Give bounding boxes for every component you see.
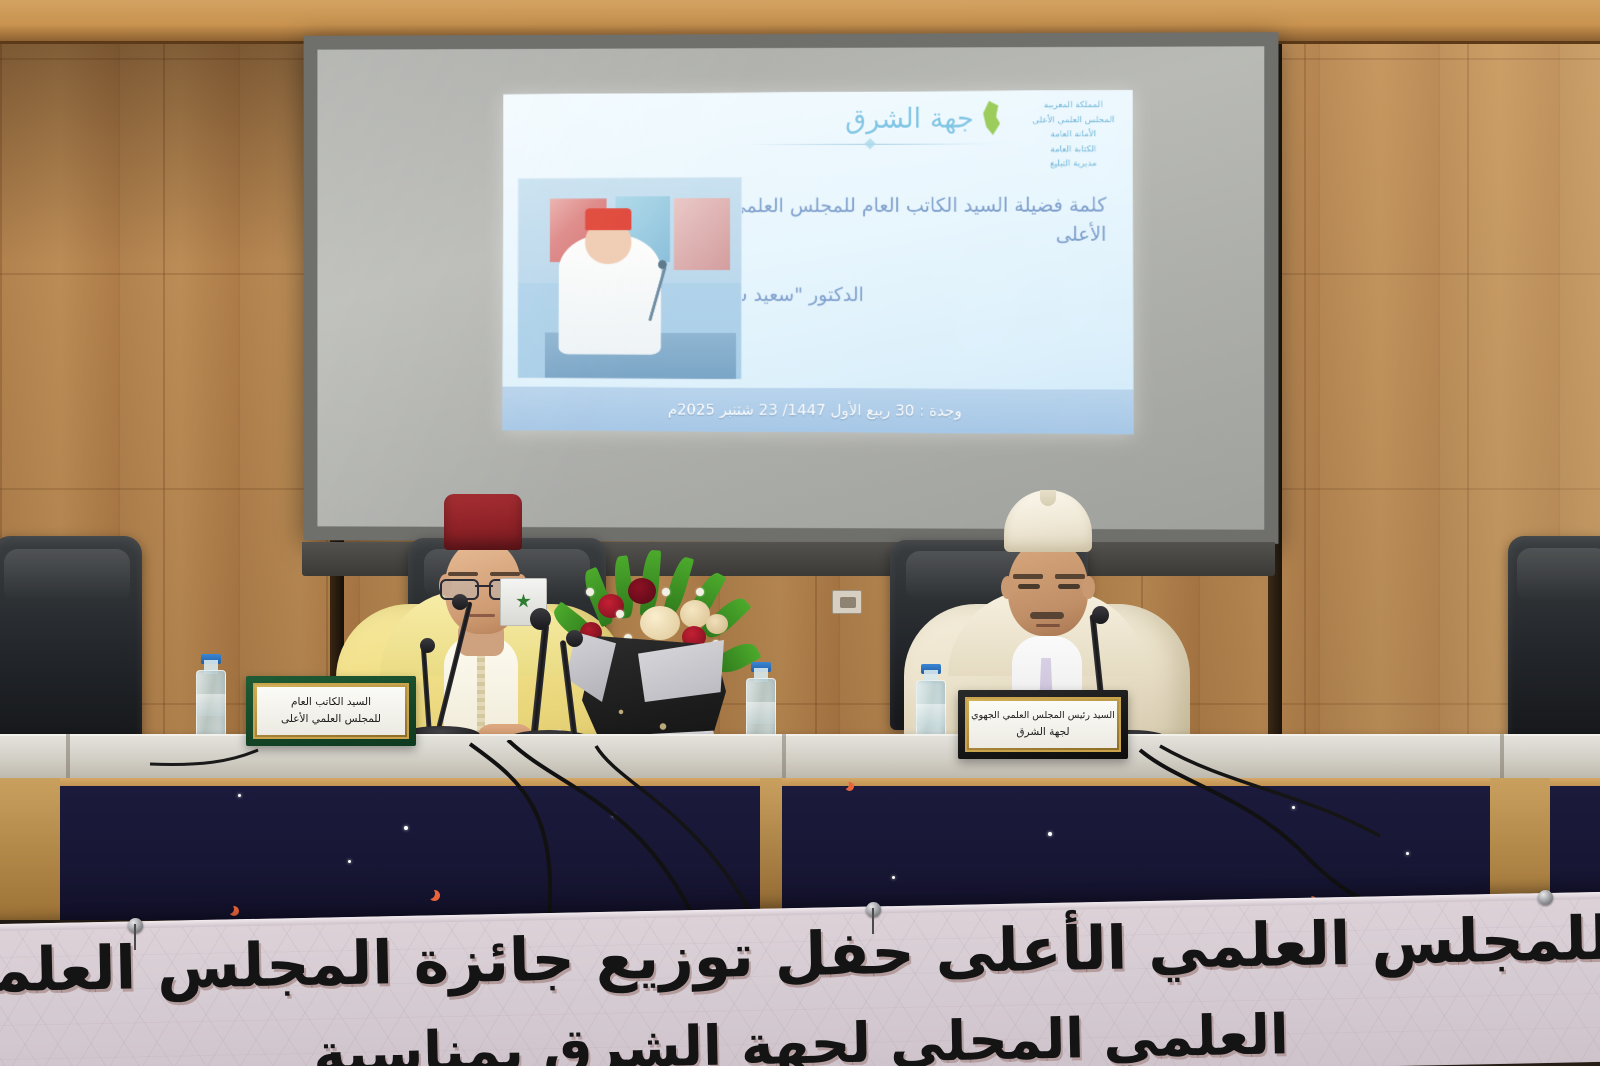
slide-bullet-item: كلمة فضيلة السيد الكاتب العام للمجلس الع… — [684, 191, 1107, 251]
screen-canvas: جهة الشرق المملكة المغربية المجلس العلمي… — [317, 46, 1264, 529]
microphone-head — [452, 594, 468, 610]
banner-pin — [134, 924, 136, 950]
header-line-1: المملكة المغربية — [1032, 98, 1114, 113]
right-person-eyebrow — [1013, 574, 1043, 579]
slide-footer-bar: وجدة : 30 ربيع الأول 1447/ 23 شتنبر 2025… — [503, 387, 1134, 435]
cream-rose — [640, 606, 680, 640]
header-line-5: مديرية التبليغ — [1032, 157, 1114, 172]
conference-photo-scene: جهة الشرق المملكة المغربية المجلس العلمي… — [0, 0, 1600, 1066]
filler-flower — [696, 588, 704, 596]
microphone-head — [420, 638, 435, 653]
nameplate-left-line-1: السيد الكاتب العام — [291, 696, 371, 709]
chair-far-left — [0, 536, 142, 746]
microphone-head — [530, 608, 551, 630]
slide-logo-text: جهة الشرق — [845, 103, 974, 135]
filler-flower — [662, 588, 670, 596]
header-line-4: الكتابة العامة — [1032, 142, 1114, 157]
photo-wall-frame — [674, 198, 730, 270]
slide-logo: جهة الشرق — [845, 101, 1002, 136]
nameplate-right-inner: السيد رئيس المجلس العلمي الجهوي لجهة الش… — [969, 701, 1117, 748]
nameplate-right-line-1: السيد رئيس المجلس العلمي الجهوي — [971, 710, 1115, 722]
morocco-star-icon — [516, 594, 531, 609]
filler-flower — [616, 610, 624, 618]
right-person-mouth — [1036, 624, 1060, 627]
banner-grommet — [1538, 890, 1553, 905]
slide-footer-date: وجدة : 30 ربيع الأول 1447/ 23 شتنبر 2025… — [668, 400, 962, 420]
red-fez-icon — [444, 494, 522, 550]
wall-shadow — [0, 44, 330, 264]
slide-bullet-list: كلمة فضيلة السيد الكاتب العام للمجلس الع… — [684, 191, 1107, 341]
right-person-eye — [1018, 584, 1040, 589]
nameplate-left-line-2: للمجلس العلمي الأعلى — [281, 713, 381, 726]
header-line-3: الأمانة العامة — [1032, 128, 1114, 143]
right-person-ear — [1001, 576, 1014, 599]
eyeglasses-bridge — [475, 585, 493, 587]
region-map-icon — [980, 101, 1002, 135]
right-person-eye — [1058, 584, 1080, 589]
bottle-label — [746, 702, 776, 724]
nameplate-left-inner: السيد الكاتب العام للمجلس العلمي الأعلى — [257, 687, 405, 735]
filler-flower — [586, 588, 594, 596]
dark-rose — [628, 578, 656, 604]
chair-far-right — [1508, 536, 1600, 744]
tarboush-notch — [1040, 490, 1056, 506]
right-person-eyebrow — [1055, 574, 1085, 579]
banner-pin — [872, 908, 874, 934]
chair-highlight — [1517, 548, 1600, 602]
chair-highlight — [4, 549, 130, 604]
photo-speaker-fez-icon — [585, 209, 632, 231]
nameplate-right-line-2: لجهة الشرق — [1016, 726, 1069, 739]
left-person-eyebrow — [490, 572, 520, 576]
presentation-slide: جهة الشرق المملكة المغربية المجلس العلمي… — [503, 90, 1134, 435]
nameplate-left: السيد الكاتب العام للمجلس العلمي الأعلى — [246, 676, 416, 746]
right-person-ear — [1082, 576, 1095, 599]
wall-outlet — [832, 590, 862, 614]
cream-rose — [706, 614, 728, 634]
right-person-moustache — [1030, 612, 1064, 619]
bottle-label — [196, 694, 226, 716]
left-person-eyebrow — [448, 572, 478, 576]
bullet-text-1: كلمة فضيلة السيد الكاتب العام للمجلس الع… — [702, 191, 1106, 251]
slide-institution-header: المملكة المغربية المجلس العلمي الأعلى ال… — [1032, 98, 1114, 172]
nameplate-gold-border: السيد الكاتب العام للمجلس العلمي الأعلى — [253, 683, 409, 739]
nameplate-right: السيد رئيس المجلس العلمي الجهوي لجهة الش… — [958, 690, 1128, 759]
left-person-mouth — [469, 614, 495, 617]
microphone-head — [566, 630, 583, 647]
slide-logo-diamond-icon — [864, 138, 875, 149]
slide-bullet-item: الدكتور "سعيد شبار" — [684, 281, 1107, 311]
header-line-2: المجلس العلمي الأعلى — [1032, 113, 1114, 128]
slide-speaker-photo — [517, 177, 742, 380]
nameplate-gold-border: السيد رئيس المجلس العلمي الجهوي لجهة الش… — [965, 697, 1121, 752]
screen-surface: جهة الشرق المملكة المغربية المجلس العلمي… — [304, 32, 1279, 544]
bottle-label — [916, 704, 946, 726]
microphone-head — [1092, 606, 1109, 624]
